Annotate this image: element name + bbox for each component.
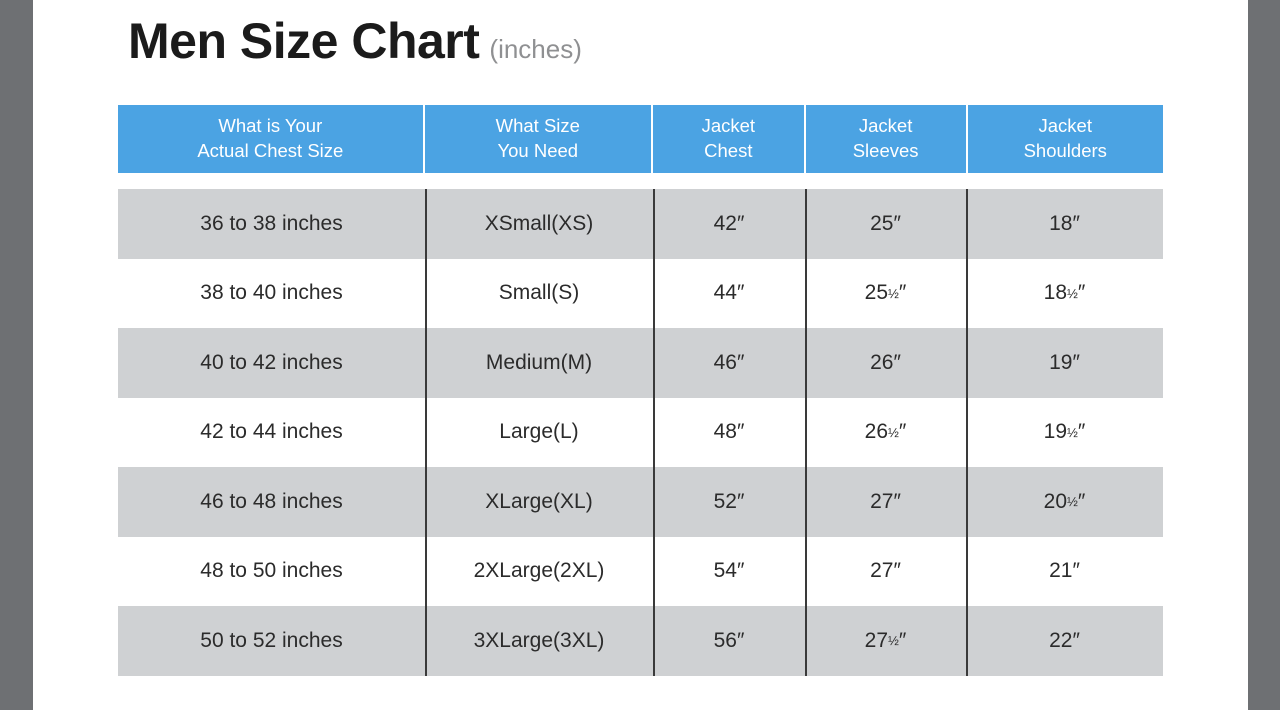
cell-jacket-chest: 56″ <box>653 606 805 676</box>
cell-jacket-shoulders: 18½″ <box>966 259 1163 329</box>
cell-chest-size: 40 to 42 inches <box>118 328 425 398</box>
cell-jacket-sleeves: 25½″ <box>805 259 966 329</box>
cell-jacket-sleeves: 26½″ <box>805 398 966 468</box>
cell-size-name: 2XLarge(2XL) <box>425 537 653 607</box>
cell-size-name: Large(L) <box>425 398 653 468</box>
column-header-jacket-chest: JacketChest <box>653 105 804 173</box>
cell-jacket-chest: 52″ <box>653 467 805 537</box>
cell-size-name: Small(S) <box>425 259 653 329</box>
table-row: 40 to 42 inchesMedium(M)46″26″19″ <box>118 328 1163 398</box>
cell-chest-size: 48 to 50 inches <box>118 537 425 607</box>
column-header-jacket-sleeves: JacketSleeves <box>806 105 966 173</box>
cell-size-name: XSmall(XS) <box>425 189 653 259</box>
title-main-text: Men Size Chart <box>128 16 479 66</box>
cell-jacket-shoulders: 22″ <box>966 606 1163 676</box>
cell-jacket-sleeves: 27″ <box>805 467 966 537</box>
header-body-gap <box>118 173 1163 189</box>
table-row: 50 to 52 inches3XLarge(3XL)56″27½″22″ <box>118 606 1163 676</box>
cell-jacket-chest: 44″ <box>653 259 805 329</box>
cell-size-name: XLarge(XL) <box>425 467 653 537</box>
column-header-line-1: What is Your <box>218 114 322 139</box>
column-header-line-2: Sleeves <box>853 139 919 164</box>
letterbox-right <box>1248 0 1280 710</box>
size-chart-table: What is YourActual Chest SizeWhat SizeYo… <box>118 105 1163 676</box>
cell-chest-size: 36 to 38 inches <box>118 189 425 259</box>
cell-jacket-shoulders: 21″ <box>966 537 1163 607</box>
table-header-row: What is YourActual Chest SizeWhat SizeYo… <box>118 105 1163 173</box>
cell-jacket-sleeves: 25″ <box>805 189 966 259</box>
cell-jacket-chest: 46″ <box>653 328 805 398</box>
cell-chest-size: 42 to 44 inches <box>118 398 425 468</box>
cell-jacket-chest: 42″ <box>653 189 805 259</box>
cell-chest-size: 38 to 40 inches <box>118 259 425 329</box>
cell-jacket-chest: 48″ <box>653 398 805 468</box>
table-row: 46 to 48 inchesXLarge(XL)52″27″20½″ <box>118 467 1163 537</box>
cell-size-name: Medium(M) <box>425 328 653 398</box>
cell-jacket-shoulders: 19″ <box>966 328 1163 398</box>
cell-jacket-sleeves: 26″ <box>805 328 966 398</box>
cell-jacket-sleeves: 27½″ <box>805 606 966 676</box>
column-header-jacket-shoulders: JacketShoulders <box>968 105 1163 173</box>
cell-size-name: 3XLarge(3XL) <box>425 606 653 676</box>
cell-jacket-sleeves: 27″ <box>805 537 966 607</box>
title-unit-text: (inches) <box>489 36 581 62</box>
cell-jacket-shoulders: 20½″ <box>966 467 1163 537</box>
column-header-line-2: Actual Chest Size <box>197 139 343 164</box>
column-header-line-1: Jacket <box>859 114 912 139</box>
column-header-line-2: Shoulders <box>1024 139 1107 164</box>
letterbox-left <box>0 0 33 710</box>
column-header-line-1: Jacket <box>702 114 755 139</box>
table-row: 48 to 50 inches2XLarge(2XL)54″27″21″ <box>118 537 1163 607</box>
table-row: 36 to 38 inchesXSmall(XS)42″25″18″ <box>118 189 1163 259</box>
slide-page: Men Size Chart (inches) What is YourActu… <box>0 0 1280 710</box>
slide-canvas: Men Size Chart (inches) What is YourActu… <box>33 0 1248 710</box>
cell-jacket-chest: 54″ <box>653 537 805 607</box>
cell-jacket-shoulders: 19½″ <box>966 398 1163 468</box>
page-title: Men Size Chart (inches) <box>128 16 582 92</box>
cell-jacket-shoulders: 18″ <box>966 189 1163 259</box>
table-row: 38 to 40 inchesSmall(S)44″25½″18½″ <box>118 259 1163 329</box>
column-header-size-name: What SizeYou Need <box>425 105 651 173</box>
table-body: 36 to 38 inchesXSmall(XS)42″25″18″38 to … <box>118 189 1163 676</box>
column-header-line-1: What Size <box>496 114 580 139</box>
column-header-line-2: Chest <box>704 139 752 164</box>
column-header-line-1: Jacket <box>1039 114 1092 139</box>
cell-chest-size: 46 to 48 inches <box>118 467 425 537</box>
column-header-line-2: You Need <box>497 139 578 164</box>
column-header-chest-size: What is YourActual Chest Size <box>118 105 423 173</box>
cell-chest-size: 50 to 52 inches <box>118 606 425 676</box>
table-row: 42 to 44 inchesLarge(L)48″26½″19½″ <box>118 398 1163 468</box>
